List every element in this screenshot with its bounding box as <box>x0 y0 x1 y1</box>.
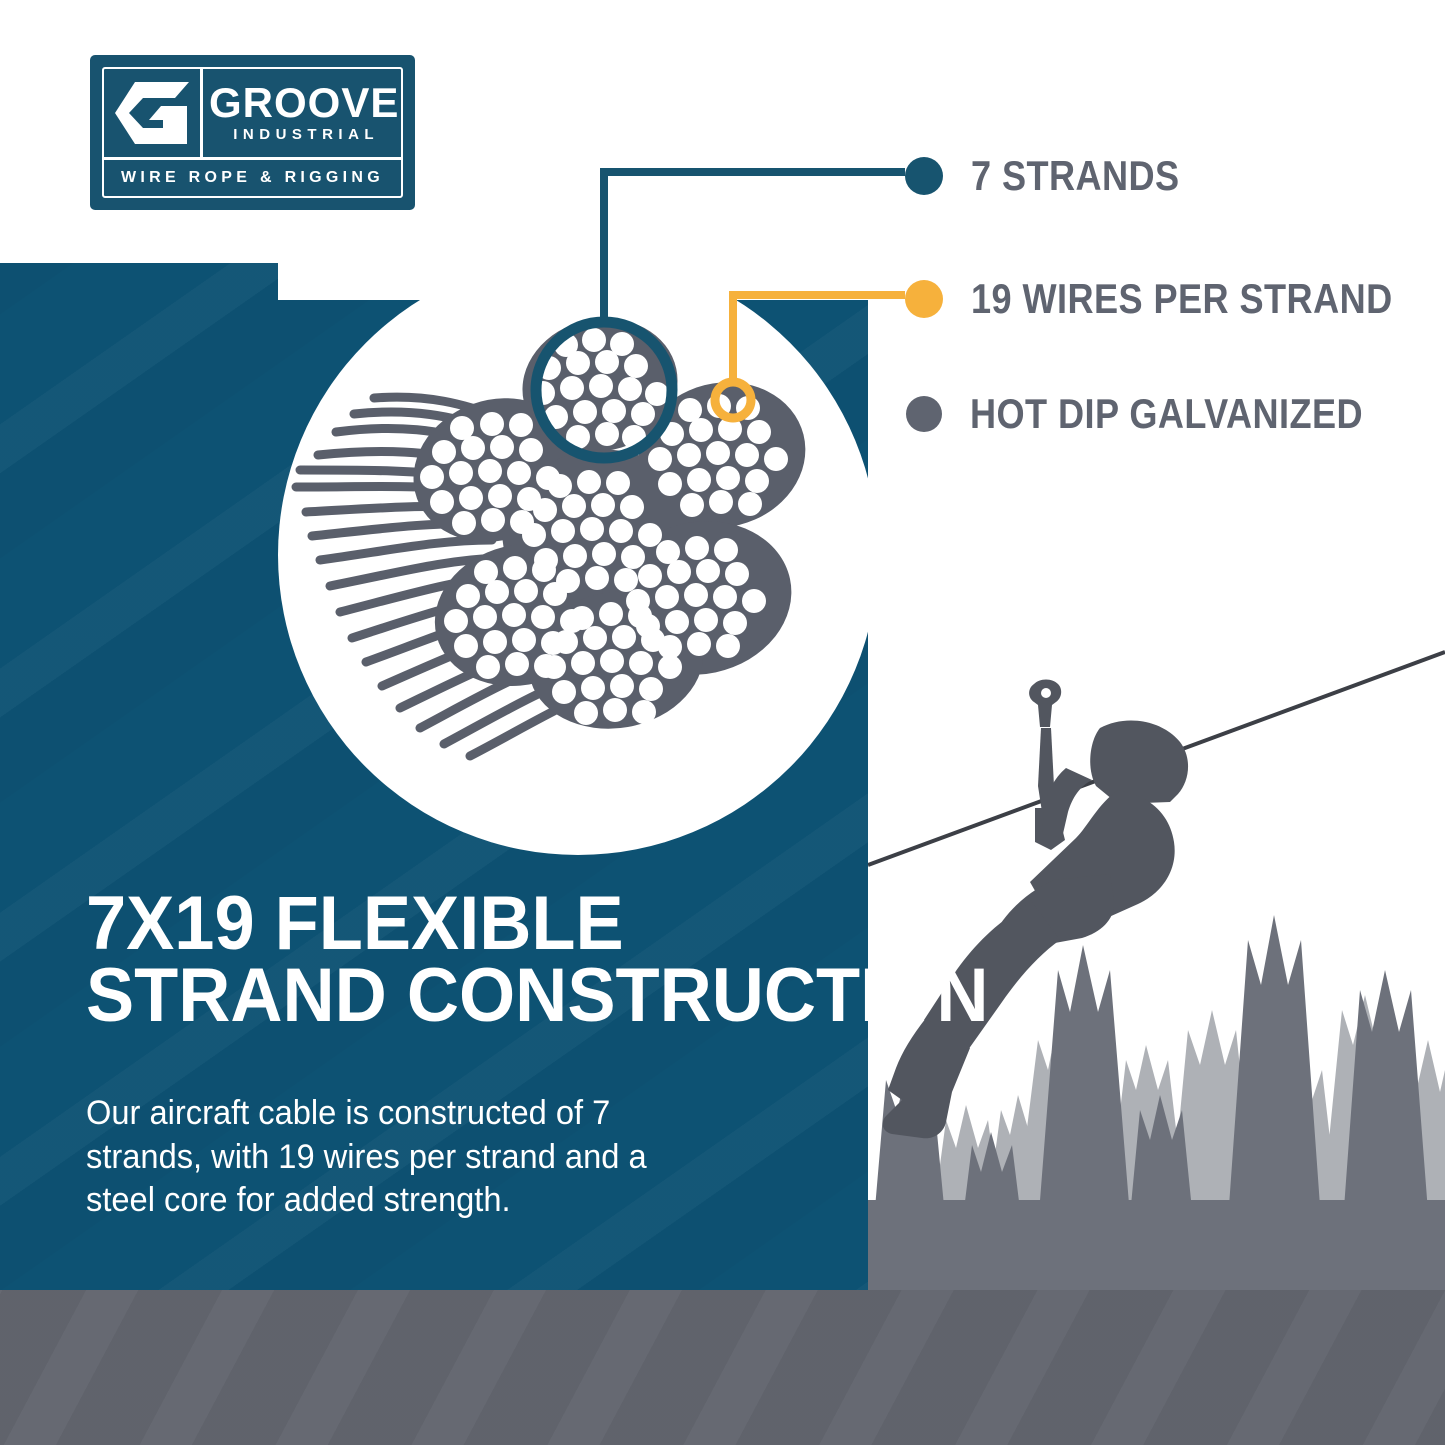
bottom-grey-bar <box>0 1290 1445 1445</box>
infographic-canvas: GROOVE INDUSTRIAL WIRE ROPE & RIGGING <box>0 0 1445 1445</box>
orange-dot-icon <box>905 280 943 318</box>
groove-g-monogram-icon <box>104 69 203 157</box>
callout-strands[interactable]: 7 STRANDS <box>905 152 1214 200</box>
brand-logo[interactable]: GROOVE INDUSTRIAL WIRE ROPE & RIGGING <box>90 55 415 210</box>
logo-top-row: GROOVE INDUSTRIAL <box>104 69 401 160</box>
callout-label-wires: 19 WIRES PER STRAND <box>971 275 1393 323</box>
logo-inner-frame: GROOVE INDUSTRIAL WIRE ROPE & RIGGING <box>102 67 403 198</box>
callout-hot-dip-galvanized[interactable]: HOT DIP GALVANIZED <box>906 390 1427 438</box>
callout-label-strands: 7 STRANDS <box>971 152 1180 200</box>
headline-line-2: STRAND CONSTRUCTION <box>86 960 808 1032</box>
headline-line-1: 7X19 FLEXIBLE <box>86 888 808 960</box>
page-title: 7X19 FLEXIBLE STRAND CONSTRUCTION <box>86 888 808 1032</box>
logo-wordmark: GROOVE INDUSTRIAL <box>203 69 403 157</box>
logo-tagline-band: WIRE ROPE & RIGGING <box>104 160 401 196</box>
callout-wires-per-strand[interactable]: 19 WIRES PER STRAND <box>905 275 1445 323</box>
logo-name: GROOVE <box>209 84 399 123</box>
callout-label-galvanized: HOT DIP GALVANIZED <box>970 390 1363 438</box>
bottom-bar-stripe-texture <box>0 1290 1445 1445</box>
logo-tagline: WIRE ROPE & RIGGING <box>121 169 384 187</box>
illustration-white-disc <box>278 255 878 855</box>
body-copy: Our aircraft cable is constructed of 7 s… <box>86 1092 720 1223</box>
navy-dot-icon <box>905 157 943 195</box>
logo-subname: INDUSTRIAL <box>233 127 379 142</box>
grey-dot-icon <box>906 396 942 432</box>
